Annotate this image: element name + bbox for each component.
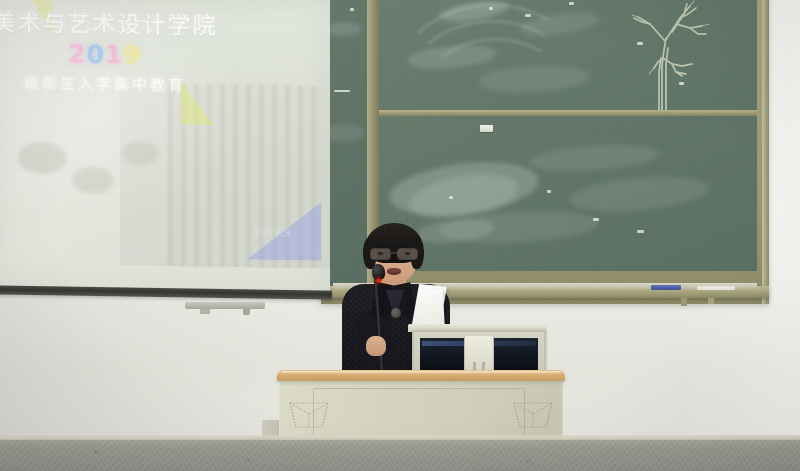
speaker-mouth [387, 268, 401, 275]
chalk-dot [569, 2, 574, 5]
speaker-left-hand [366, 336, 386, 356]
eyeglass-lens-right [397, 248, 418, 260]
white-chalk-stick[interactable] [697, 286, 735, 290]
chalk-dot [350, 8, 354, 11]
ledge-bracket [708, 298, 714, 304]
lectern-top-trim [277, 370, 565, 381]
lectern-top-highlight [281, 371, 561, 374]
chalk-dot [489, 7, 493, 10]
microphone-power-led [376, 278, 381, 283]
eyeglasses-icon [370, 248, 418, 258]
lectern-emblem-icon [287, 392, 331, 430]
chalk-dot [334, 90, 350, 92]
blackboard-frame-highlight [762, 0, 769, 304]
screen-mount-bracket [185, 302, 265, 309]
lectern-emblem-icon [511, 392, 555, 430]
chalk-dot [593, 218, 599, 221]
speaker-eye-left [378, 252, 383, 255]
chalk-dot [449, 196, 453, 199]
chalk-dot [547, 190, 551, 193]
lecture-hall-photo: 美术与艺术设计学院 2019 级新生入学集中教育 2019.8 [0, 0, 800, 471]
projection-screen: 美术与艺术设计学院 2019 级新生入学集中教育 2019.8 [0, 0, 330, 303]
chalk-smudge [528, 141, 659, 174]
ledge-bracket [681, 298, 687, 306]
screen-mount-peg [243, 309, 250, 315]
chalk-tree-drawing [614, 0, 719, 114]
screen-glare [0, 0, 330, 293]
eyeglass-lens-left [370, 248, 391, 260]
chalk-smudge [568, 172, 710, 216]
speaker-pendant [391, 308, 401, 318]
chalk-smudge [326, 22, 362, 36]
chalk-dot [637, 230, 644, 233]
screen-mount-peg [200, 309, 210, 314]
chalk-dot [525, 14, 531, 17]
chalk-smudge [324, 124, 364, 142]
chalk-eraser[interactable] [480, 125, 493, 132]
baseboard-texture [0, 439, 800, 471]
terrazzo-baseboard [0, 439, 800, 471]
projection-screen-surface: 美术与艺术设计学院 2019 级新生入学集中教育 2019.8 [0, 0, 330, 293]
speaker-eye-right [405, 252, 410, 255]
blue-marker-box[interactable] [651, 285, 681, 290]
